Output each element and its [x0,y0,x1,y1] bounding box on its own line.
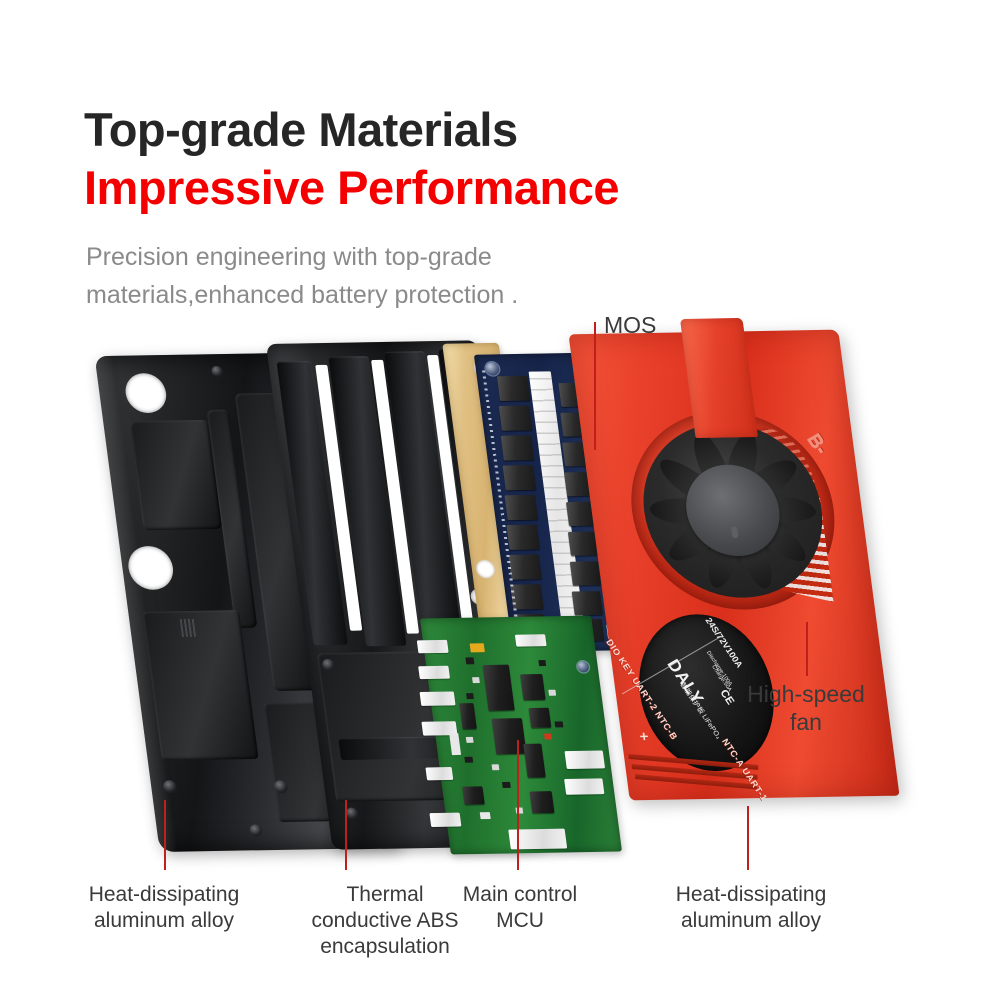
callout-high-speed-fan: High-speed fan [736,680,876,736]
leader-line-high-speed-fan [806,622,808,676]
leader-line-mos [594,322,596,450]
callout-mos: MOS [604,312,714,338]
leader-line-mcu [517,740,519,870]
cert-text: CE [717,688,736,707]
main-control-mcu-board [420,616,622,855]
leader-line-heat-alu-right [747,806,749,870]
subtitle-line-2: materials,enhanced battery protection . [86,281,518,310]
infographic-canvas: Top-grade Materials Impressive Performan… [0,0,1000,1000]
callout-heat-alu-right: Heat-dissipating aluminum alloy [651,882,851,934]
callout-heat-alu-left: Heat-dissipating aluminum alloy [64,882,264,934]
headline-line-2: Impressive Performance [84,160,619,215]
leader-line-thermal-abs [345,800,347,870]
subtitle-line-1: Precision engineering with top-grade [86,243,492,272]
headline-line-1: Top-grade Materials [84,102,518,157]
leader-line-heat-alu-left [164,800,166,870]
callout-mcu: Main control MCU [447,882,593,934]
polarity-label: + [639,728,651,745]
